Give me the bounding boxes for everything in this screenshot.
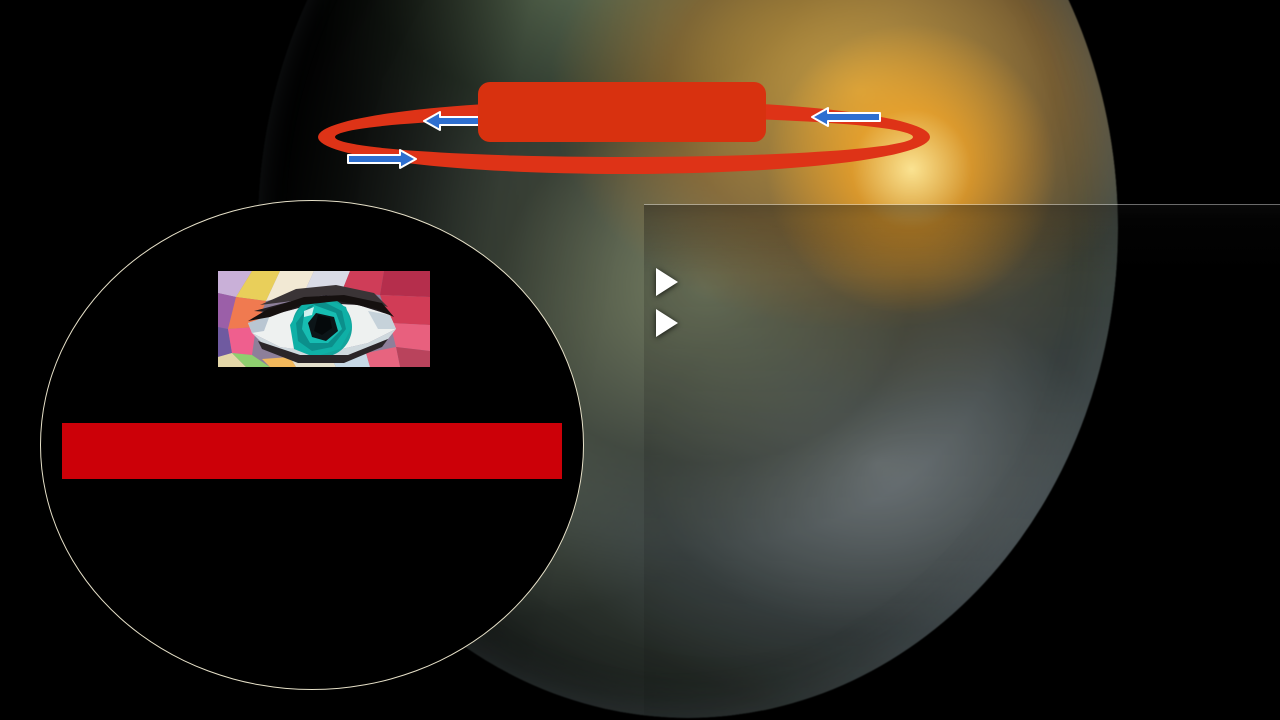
eye-graphic <box>218 271 430 367</box>
triangle-bullet-icon <box>656 268 678 296</box>
god-cycle-diagram <box>318 86 930 188</box>
human-spirit-banner <box>62 423 562 479</box>
arrow-word-of-god-icon <box>346 148 418 170</box>
paragraph-spacer <box>656 219 1270 255</box>
list-item <box>656 257 1270 296</box>
list-item <box>656 298 1270 337</box>
arrow-fruit-icon <box>810 106 882 128</box>
slide-canvas <box>0 0 1280 720</box>
body-text-panel <box>644 204 1280 720</box>
low-poly-eye-image <box>218 271 430 367</box>
god-box <box>478 82 766 142</box>
body-text-content <box>656 219 1270 337</box>
triangle-bullet-icon <box>656 309 678 337</box>
fully-in-the-lie-text <box>41 501 583 543</box>
